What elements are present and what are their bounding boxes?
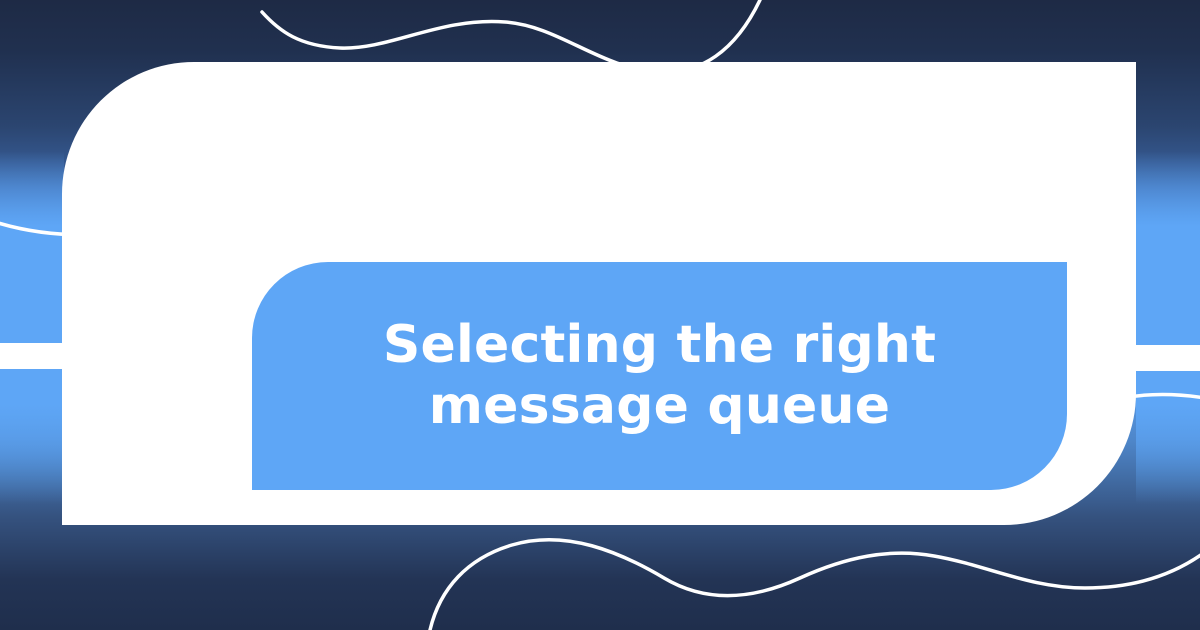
title-panel: Selecting the right message queue: [252, 262, 1067, 490]
og-image-canvas: Selecting the right message queue: [0, 0, 1200, 630]
right-accent-band: [1136, 0, 1200, 630]
left-white-band: [0, 343, 64, 369]
content-card: Selecting the right message queue: [62, 62, 1136, 525]
left-accent-band: [0, 0, 64, 630]
right-white-band: [1136, 345, 1200, 371]
page-title: Selecting the right message queue: [300, 315, 1020, 438]
